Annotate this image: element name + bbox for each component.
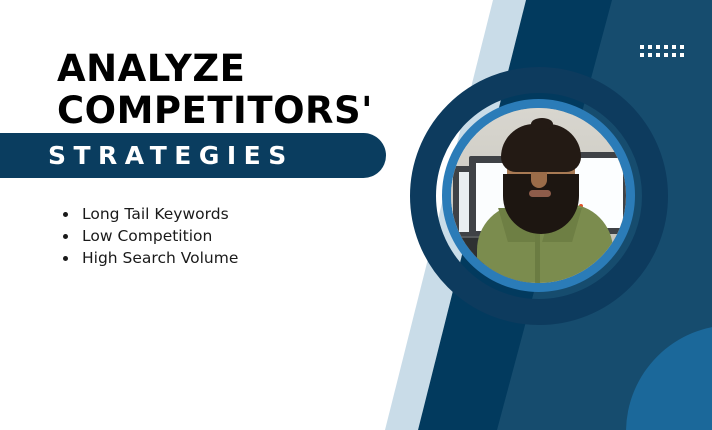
person-nose [531, 170, 547, 188]
person-hair-tuft [531, 118, 553, 130]
dot [648, 45, 652, 49]
strategies-label: STRATEGIES [0, 141, 294, 170]
dot [648, 53, 652, 57]
dot [656, 53, 660, 57]
title-line-1: ANALYZE [0, 48, 400, 90]
dot [672, 53, 676, 57]
list-item: Long Tail Keywords [57, 203, 238, 225]
list-item: High Search Volume [57, 247, 238, 269]
feature-bullet-list: Long Tail Keywords Low Competition High … [57, 203, 238, 269]
strategies-highlight-banner: STRATEGIES [0, 133, 386, 178]
slide-title: ANALYZE COMPETITORS' [0, 48, 400, 132]
list-item-label: High Search Volume [82, 249, 238, 267]
dot-grid-icon [640, 45, 684, 57]
dot [640, 53, 644, 57]
title-line-2: COMPETITORS' [0, 90, 400, 132]
presenter-photo [451, 108, 626, 283]
dot [640, 45, 644, 49]
person-mouth [529, 190, 551, 197]
list-item: Low Competition [57, 225, 238, 247]
presentation-slide: ANALYZE COMPETITORS' STRATEGIES Long Tai… [0, 0, 712, 430]
dot [680, 45, 684, 49]
presenter-avatar [451, 108, 626, 283]
list-item-label: Long Tail Keywords [82, 205, 229, 223]
bullet-dot-icon [63, 256, 68, 261]
dot [664, 45, 668, 49]
person-hair [501, 124, 581, 172]
dot [664, 53, 668, 57]
bullet-dot-icon [63, 234, 68, 239]
dot [672, 45, 676, 49]
bullet-dot-icon [63, 212, 68, 217]
shirt-placket [535, 230, 540, 283]
list-item-label: Low Competition [82, 227, 212, 245]
dot [656, 45, 660, 49]
dot [680, 53, 684, 57]
